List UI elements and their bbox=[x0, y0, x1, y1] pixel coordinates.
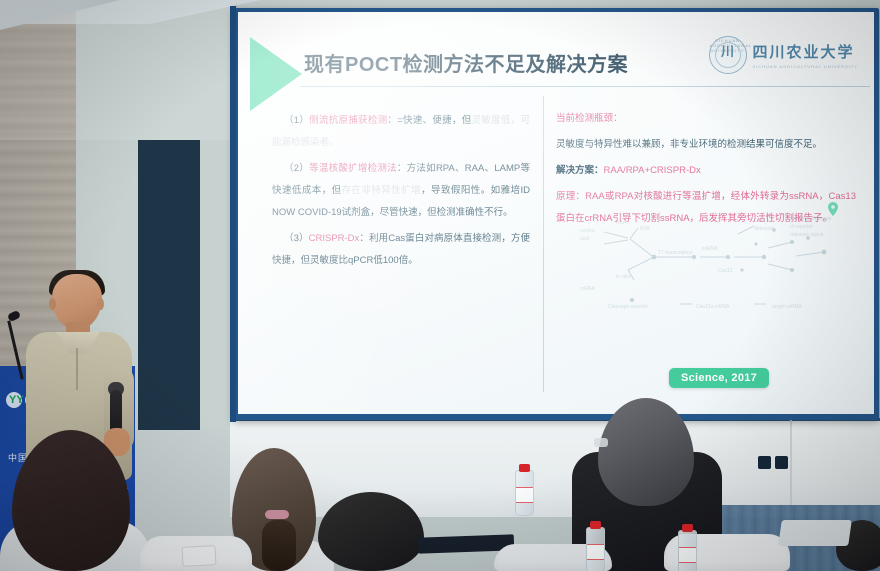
solution: 解决方案：RAA/RPA+CRISPR-Dx bbox=[556, 160, 856, 182]
text-run: （2） bbox=[284, 163, 309, 174]
svg-text:Cas13: Cas13 bbox=[718, 268, 733, 274]
hair-tie bbox=[265, 510, 289, 519]
presentation-slide: 现有POCT检测方法不足及解决方案 SICHUAN AGRICULTURAL U… bbox=[238, 12, 874, 414]
svg-text:acid: acid bbox=[580, 236, 589, 242]
item-3: （3）CRISPR-Dx：利用Cas蛋白对病原体直接检测，方便快捷，但灵敏度比q… bbox=[272, 228, 530, 272]
svg-text:nucleic: nucleic bbox=[580, 228, 596, 234]
bottleneck-label: 当前检测瓶颈： bbox=[556, 108, 856, 130]
water-bottle bbox=[586, 527, 605, 571]
wall-outlet bbox=[758, 456, 771, 469]
bottleneck-body: 灵敏度与特异性难以兼顾，非专业环境的检测结果可信度不足。 bbox=[556, 134, 856, 156]
svg-text:in vitro: in vitro bbox=[616, 274, 631, 280]
svg-text:collateral cleavage: collateral cleavage bbox=[790, 216, 832, 222]
svg-text:detection: detection bbox=[754, 226, 775, 232]
university-name: 四川农业大学 bbox=[753, 41, 858, 62]
seal-glyph: 川 bbox=[710, 45, 746, 59]
svg-text:RAA: RAA bbox=[616, 220, 627, 226]
text-run: 当前检测瓶颈： bbox=[556, 113, 623, 124]
ponytail bbox=[262, 520, 296, 571]
item-2: （2）等温核酸扩增检测法：方法如RPA、RAA、LAMP等快速低成本，但存在非特… bbox=[272, 158, 530, 224]
text-run: 原理： bbox=[556, 191, 585, 202]
university-logo: SICHUAN AGRICULTURAL UNIVERSITY 川 四川农业大学… bbox=[709, 34, 858, 76]
text-run: ：=快速、便捷，但 bbox=[387, 115, 471, 126]
text-run: 等温核酸扩增检测法 bbox=[309, 163, 397, 174]
laptop bbox=[778, 520, 852, 546]
speaker-ear bbox=[49, 298, 56, 310]
text-run: （3） bbox=[284, 233, 309, 244]
wall-outlet bbox=[775, 456, 788, 469]
smartphone-on-table bbox=[181, 545, 216, 567]
university-seal-icon: SICHUAN AGRICULTURAL UNIVERSITY 川 bbox=[709, 36, 747, 74]
svg-text:T7 transcription: T7 transcription bbox=[658, 250, 693, 256]
svg-text:RPA: RPA bbox=[640, 226, 651, 232]
water-bottle bbox=[678, 530, 697, 571]
svg-text:crRNA: crRNA bbox=[580, 286, 595, 292]
green-triangle-icon bbox=[250, 37, 302, 111]
slide-title: 现有POCT检测方法不足及解决方案 bbox=[304, 48, 628, 77]
item-1: （1）侧流抗原捕获检测：=快速、便捷，但灵敏度低，可能漏检感染者。 bbox=[272, 110, 530, 154]
svg-text:ssRNA: ssRNA bbox=[702, 246, 718, 252]
text-run: 灵敏度与特异性难以兼顾，非专业环境的检测结果可信度不足。 bbox=[556, 139, 822, 150]
water-bottle bbox=[515, 470, 534, 516]
text-run: 存在非特异性扩增 bbox=[342, 185, 422, 196]
svg-text:Cleavage reporter: Cleavage reporter bbox=[608, 304, 648, 310]
svg-text:Cas13: Cas13 bbox=[754, 218, 769, 224]
svg-text:releases signal: releases signal bbox=[790, 232, 823, 238]
slide-title-underline bbox=[300, 86, 870, 87]
presentation-photo-scene: YY 中国 专家论坛 现有POCT检测方法不足及解决方案 SICHUAN AGR… bbox=[0, 0, 880, 571]
text-run: （1） bbox=[284, 115, 309, 126]
speaker-shirt-placket bbox=[76, 348, 78, 390]
svg-text:target ssRNA: target ssRNA bbox=[772, 304, 802, 310]
text-run: CRISPR-Dx bbox=[309, 233, 360, 244]
wall-seam bbox=[790, 418, 792, 514]
column-divider bbox=[543, 96, 544, 392]
text-run: 解决方案： bbox=[556, 165, 604, 176]
text-run: RAA/RPA+CRISPR-Dx bbox=[604, 165, 701, 176]
svg-text:Cas13a crRNA: Cas13a crRNA bbox=[696, 304, 730, 310]
university-name-english: SICHUAN AGRICULTURAL UNIVERSITY bbox=[753, 64, 858, 69]
text-run: 侧流抗原捕获检测 bbox=[309, 115, 387, 126]
speaker-ear bbox=[97, 298, 104, 310]
figure-citation-badge: Science, 2017 bbox=[669, 368, 769, 388]
location-pin-icon bbox=[828, 202, 838, 216]
svg-text:of reporter: of reporter bbox=[790, 224, 813, 230]
eyeglasses bbox=[594, 438, 608, 447]
science-schematic-diagram: nucleicacid RAARPA T7 transcription in v… bbox=[568, 208, 856, 312]
slide-left-column: （1）侧流抗原捕获检测：=快速、便捷，但灵敏度低，可能漏检感染者。（2）等温核酸… bbox=[272, 110, 530, 276]
